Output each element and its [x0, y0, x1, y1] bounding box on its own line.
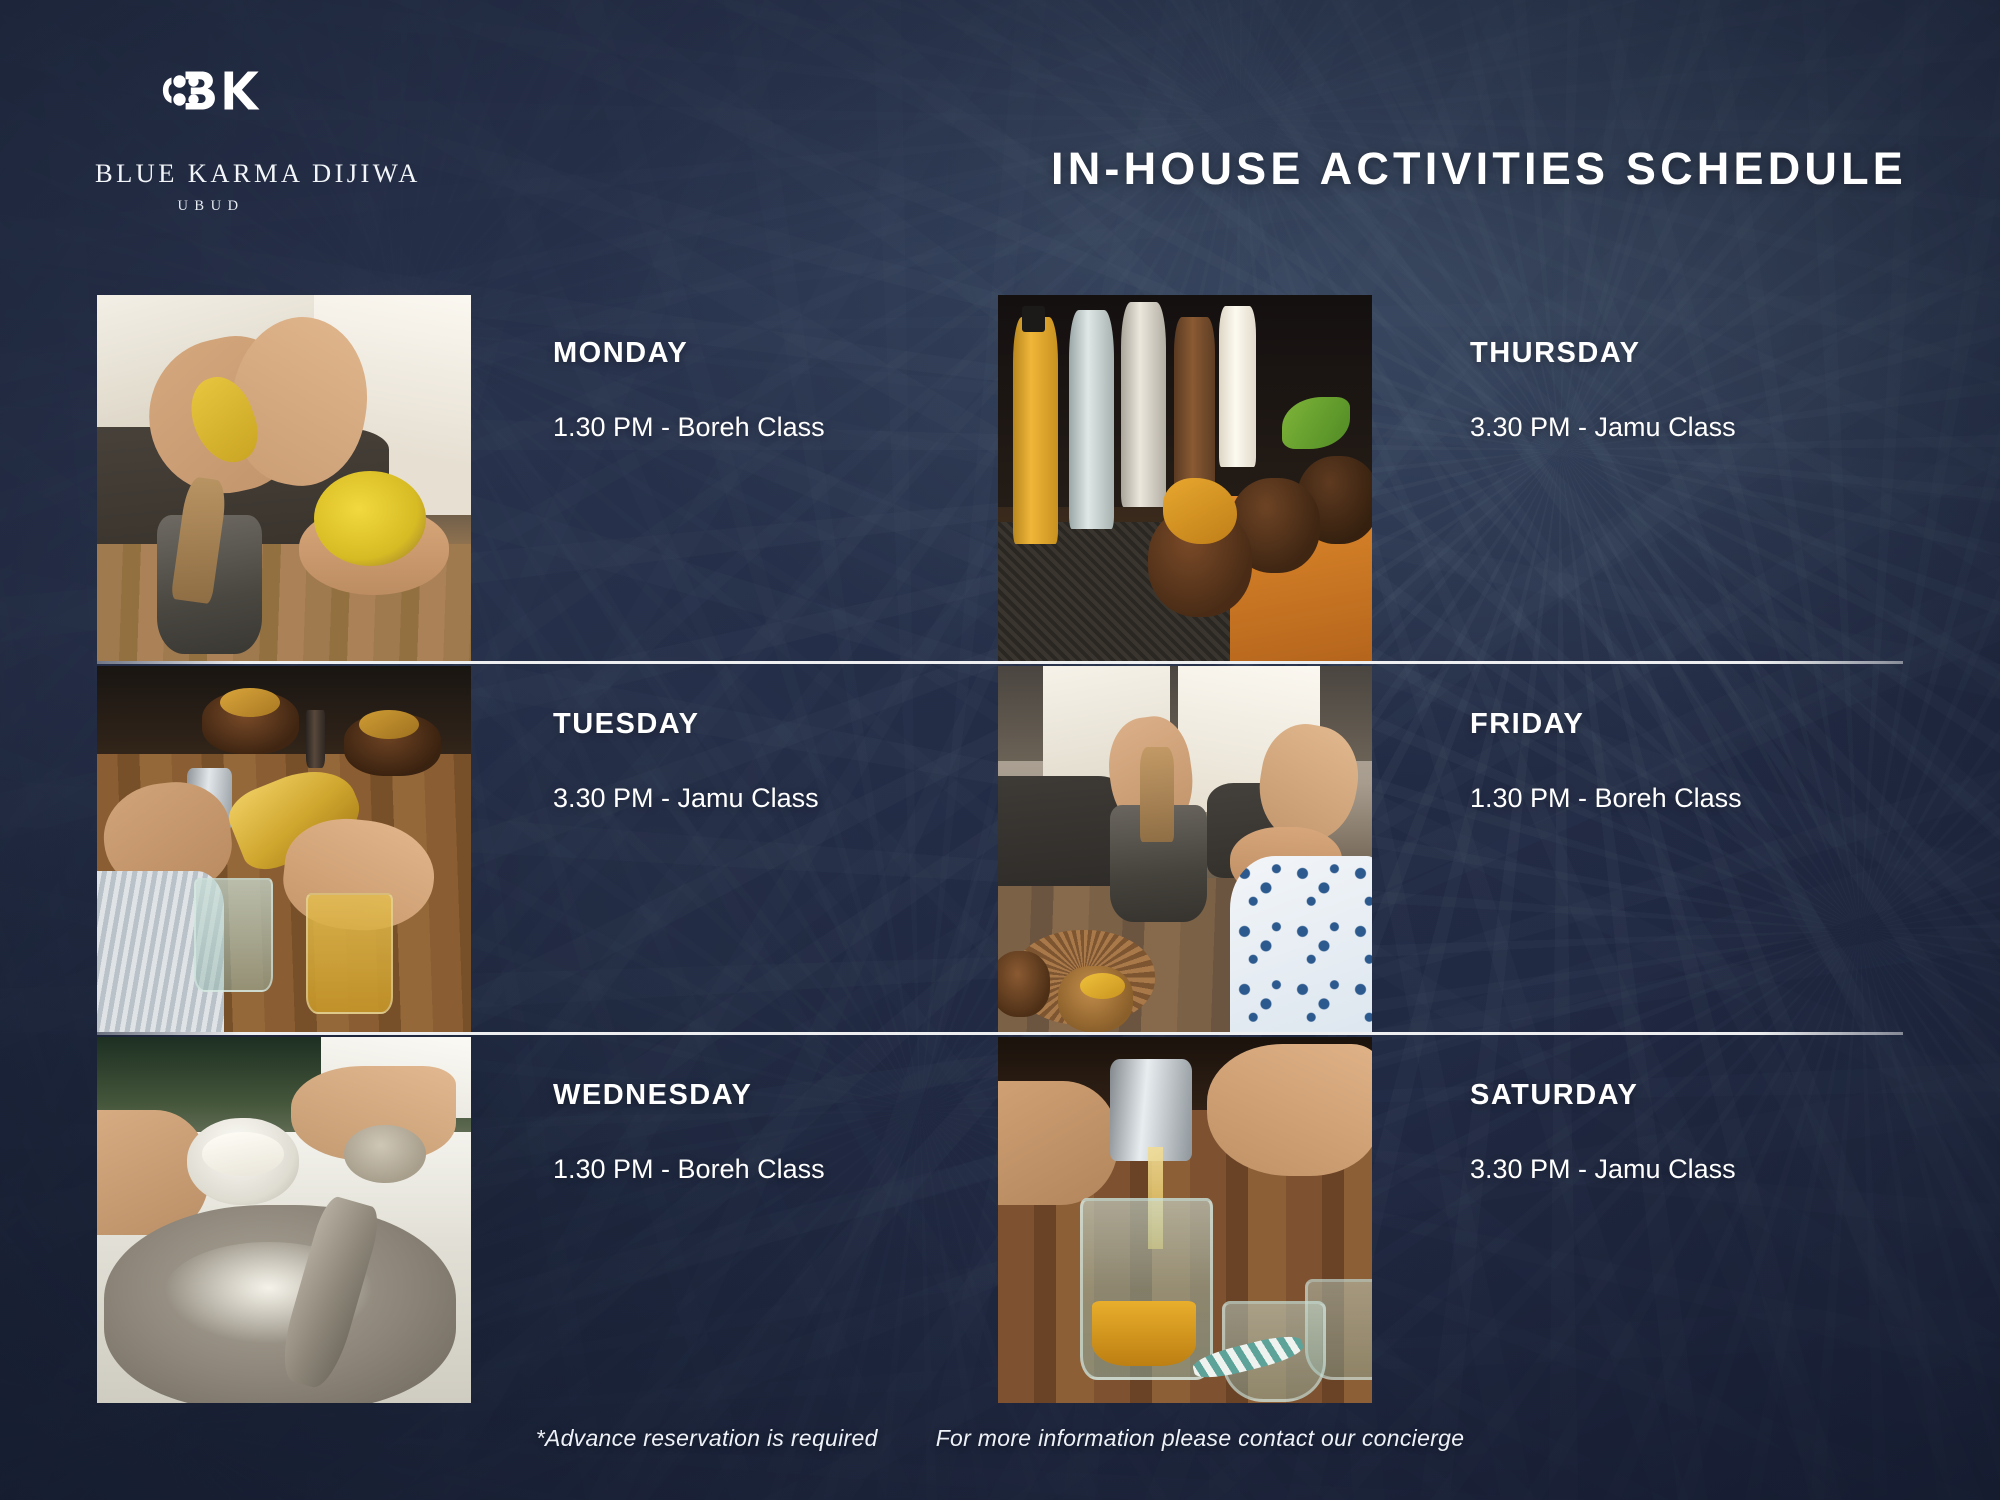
- photo-tuesday-jamu-class: [97, 666, 471, 1032]
- schedule-text-monday: MONDAY 1.30 PM - Boreh Class: [553, 295, 983, 441]
- slot-label: 3.30 PM - Jamu Class: [553, 785, 983, 812]
- row-divider: [97, 1032, 1903, 1035]
- slot-label: 3.30 PM - Jamu Class: [1470, 1156, 1900, 1183]
- photo-wednesday-boreh-class: [97, 1037, 471, 1403]
- schedule-row: WEDNESDAY 1.30 PM - Boreh Class SATURDAY…: [0, 1037, 2000, 1403]
- photo-monday-boreh-class: [97, 295, 471, 661]
- schedule-cell-monday: MONDAY 1.30 PM - Boreh Class: [97, 295, 957, 661]
- reservation-note: *Advance reservation is required: [536, 1425, 878, 1452]
- schedule-text-saturday: SATURDAY 3.30 PM - Jamu Class: [1470, 1037, 1900, 1183]
- slot-label: 3.30 PM - Jamu Class: [1470, 414, 1900, 441]
- schedule-cell-saturday: SATURDAY 3.30 PM - Jamu Class: [998, 1037, 1903, 1403]
- slot-label: 1.30 PM - Boreh Class: [553, 414, 983, 441]
- slot-label: 1.30 PM - Boreh Class: [1470, 785, 1900, 812]
- photo-thursday-jamu-class: [998, 295, 1372, 661]
- schedule-text-wednesday: WEDNESDAY 1.30 PM - Boreh Class: [553, 1037, 983, 1183]
- day-label: FRIDAY: [1470, 710, 1900, 739]
- day-label: THURSDAY: [1470, 339, 1900, 368]
- day-label: TUESDAY: [553, 710, 983, 739]
- slot-label: 1.30 PM - Boreh Class: [553, 1156, 983, 1183]
- concierge-contact: For more information please contact our …: [936, 1425, 1465, 1452]
- schedule-text-friday: FRIDAY 1.30 PM - Boreh Class: [1470, 666, 1900, 812]
- schedule-grid: MONDAY 1.30 PM - Boreh Class THURSDAY 3.…: [0, 0, 2000, 1500]
- schedule-text-tuesday: TUESDAY 3.30 PM - Jamu Class: [553, 666, 983, 812]
- photo-saturday-jamu-class: [998, 1037, 1372, 1403]
- schedule-row: MONDAY 1.30 PM - Boreh Class THURSDAY 3.…: [0, 295, 2000, 661]
- row-divider: [97, 661, 1903, 664]
- schedule-cell-wednesday: WEDNESDAY 1.30 PM - Boreh Class: [97, 1037, 957, 1403]
- footer: *Advance reservation is required For mor…: [0, 1425, 2000, 1452]
- day-label: SATURDAY: [1470, 1081, 1900, 1110]
- schedule-text-thursday: THURSDAY 3.30 PM - Jamu Class: [1470, 295, 1900, 441]
- photo-friday-boreh-class: [998, 666, 1372, 1032]
- schedule-cell-friday: FRIDAY 1.30 PM - Boreh Class: [998, 666, 1903, 1032]
- schedule-row: TUESDAY 3.30 PM - Jamu Class FRIDAY 1.30…: [0, 666, 2000, 1032]
- day-label: WEDNESDAY: [553, 1081, 983, 1110]
- day-label: MONDAY: [553, 339, 983, 368]
- schedule-cell-thursday: THURSDAY 3.30 PM - Jamu Class: [998, 295, 1903, 661]
- schedule-cell-tuesday: TUESDAY 3.30 PM - Jamu Class: [97, 666, 957, 1032]
